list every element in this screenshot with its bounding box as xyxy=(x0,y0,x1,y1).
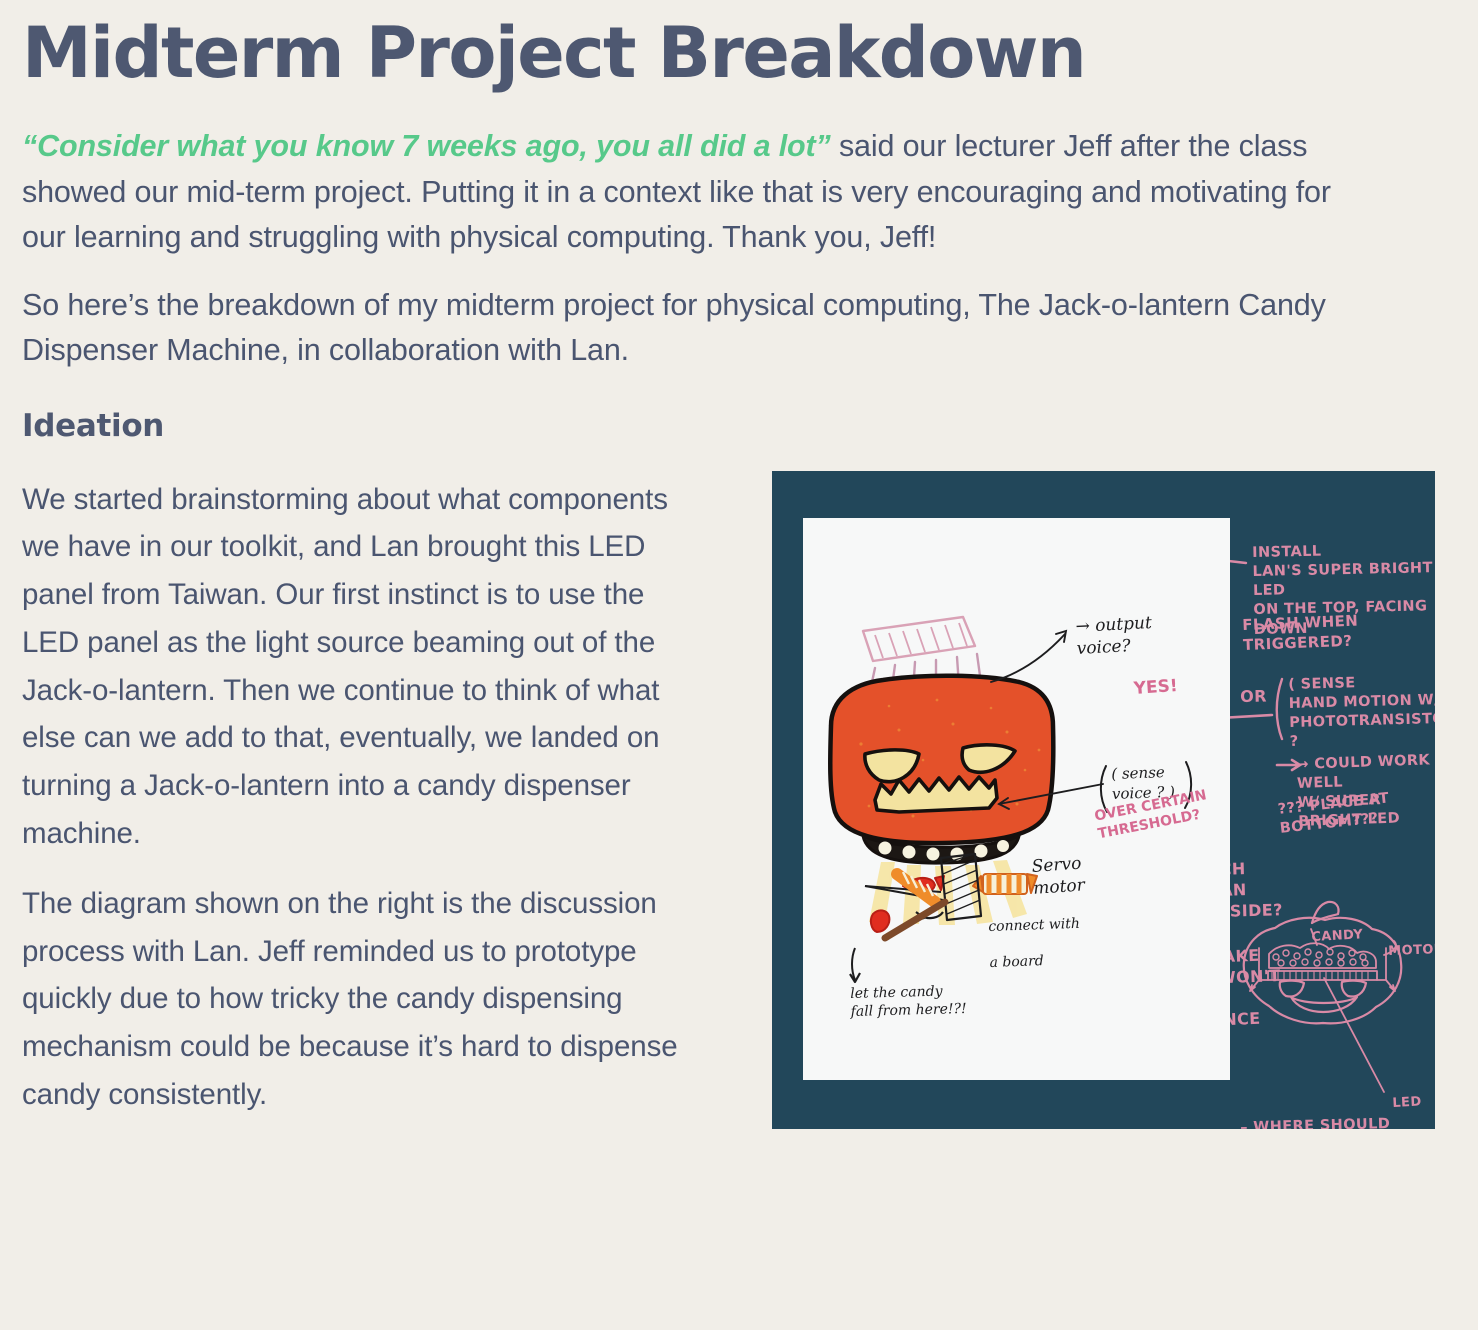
sketch-note-yes: YES! xyxy=(1133,675,1178,700)
sketch-note-servo-motor: Servo motor xyxy=(1031,852,1086,900)
sketch-note-connect-board: connect with a board xyxy=(988,914,1081,972)
note-flash-triggered: FLASH WHEN TRIGGERED? xyxy=(1242,608,1435,655)
sketch-note-output-voice: → output voice? xyxy=(1075,612,1154,660)
note-or: OR xyxy=(1240,685,1267,707)
lecturer-quote: “Consider what you know 7 weeks ago, you… xyxy=(22,129,831,163)
note-candy-label: CANDY xyxy=(1311,926,1364,946)
intro-section: “Consider what you know 7 weeks ago, you… xyxy=(0,124,1400,373)
page-title: Midterm Project Breakdown xyxy=(0,0,1478,92)
intro-paragraph-2: So here’s the breakdown of my midterm pr… xyxy=(22,283,1378,374)
ideation-content-row: We started brainstorming about what comp… xyxy=(0,476,1478,1141)
sketch-sheet: → output voice? ( sense voice ? ) Servo … xyxy=(803,518,1230,1080)
note-motor-label: MOTOR xyxy=(1388,941,1435,960)
note-arduino-question: – WHERE SHOULD ARDUINO GO? AT THE BOTTOM… xyxy=(1240,1113,1435,1128)
sketch-figure-card: INSTALL LAN'S SUPER BRIGHT LED ON THE TO… xyxy=(772,471,1435,1129)
note-led-label: LED xyxy=(1392,1093,1422,1112)
article-page: Midterm Project Breakdown “Consider what… xyxy=(0,0,1478,1330)
section-heading-ideation: Ideation xyxy=(0,408,1478,444)
ideation-figure-column: INSTALL LAN'S SUPER BRIGHT LED ON THE TO… xyxy=(772,471,1435,1129)
intro-paragraph-1: “Consider what you know 7 weeks ago, you… xyxy=(22,124,1378,260)
ideation-paragraph-1: We started brainstorming about what comp… xyxy=(22,476,694,858)
ideation-text-column: We started brainstorming about what comp… xyxy=(22,476,694,1141)
ideation-paragraph-2: The diagram shown on the right is the di… xyxy=(22,880,694,1119)
note-sense-hand-motion: ( SENSE HAND MOTION W/ PHOTOTRANSISTORS … xyxy=(1288,671,1435,752)
sketch-note-candy-fall: let the candy fall from here!?! xyxy=(850,982,967,1021)
